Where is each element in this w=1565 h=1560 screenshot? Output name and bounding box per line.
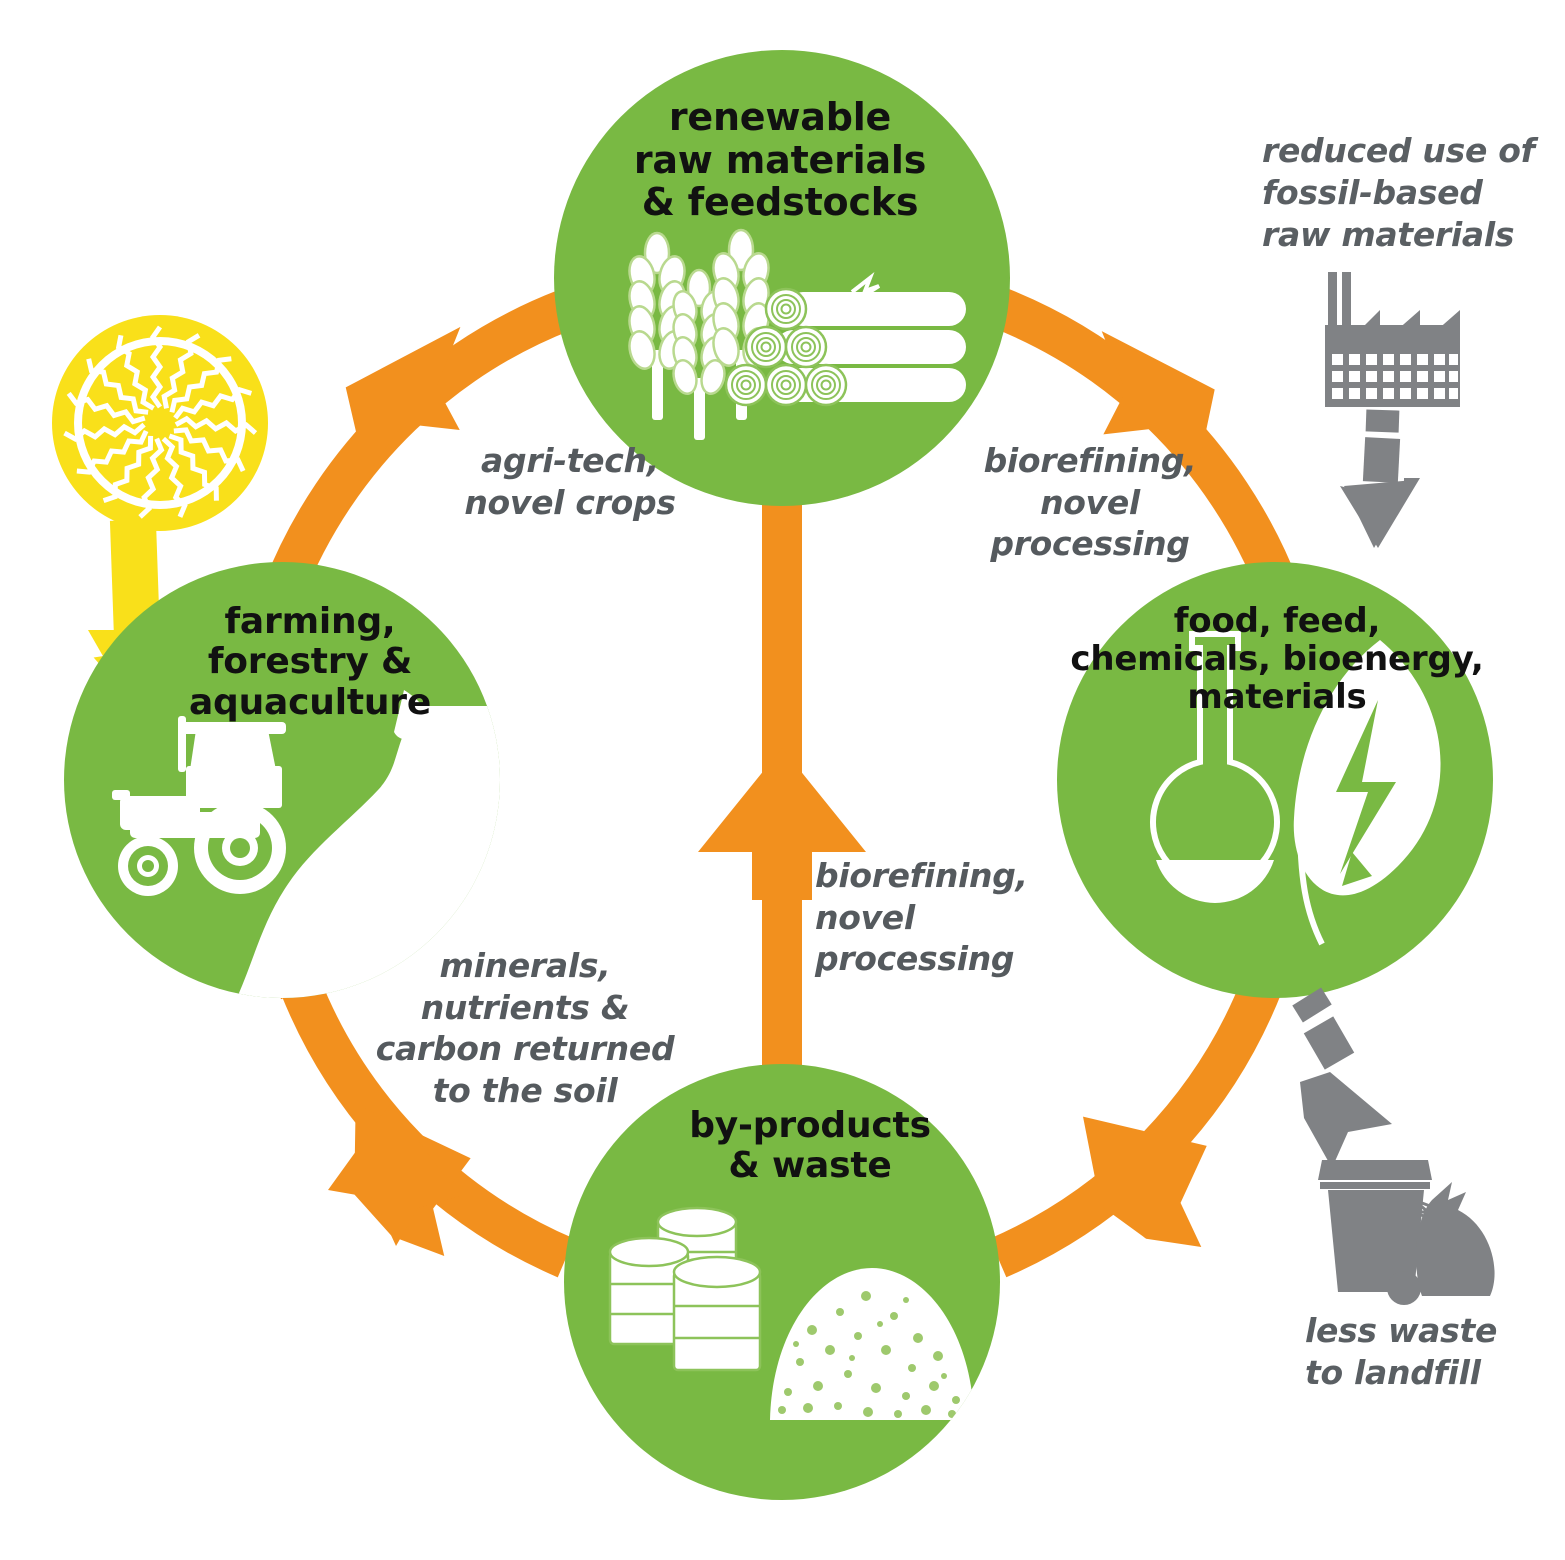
dashed-arrow-down-left-icon [1292,988,1392,1168]
factory-icon [1325,272,1460,407]
flow-label-minerals: minerals, nutrients & carbon returned to… [370,945,680,1111]
flow-label-biorefining-center: biorefining, novel processing [815,855,1065,980]
bioeconomy-diagram: renewable raw materials & feedstocks foo… [0,0,1565,1560]
node-label-farming: farming, forestry & aquaculture [120,602,500,723]
node-label-products: food, feed, chemicals, bioenergy, materi… [1062,602,1492,716]
sun-icon [52,315,268,531]
garbage-bag-icon [1412,1182,1495,1296]
side-label-fossil: reduced use of fossil-based raw material… [1262,130,1562,257]
wheelie-bin-icon [1318,1160,1432,1305]
flow-label-biorefining-right: biorefining, novel processing [940,440,1240,565]
arrow-products-to-byproducts [998,985,1262,1258]
flow-label-agri-tech: agri-tech, novel crops [420,440,720,523]
node-label-byproducts: by-products & waste [610,1106,1010,1187]
dashed-arrow-down-icon [1340,409,1420,548]
side-label-landfill: less waste to landfill [1305,1310,1555,1394]
node-label-renewable: renewable raw materials & feedstocks [560,96,1000,224]
